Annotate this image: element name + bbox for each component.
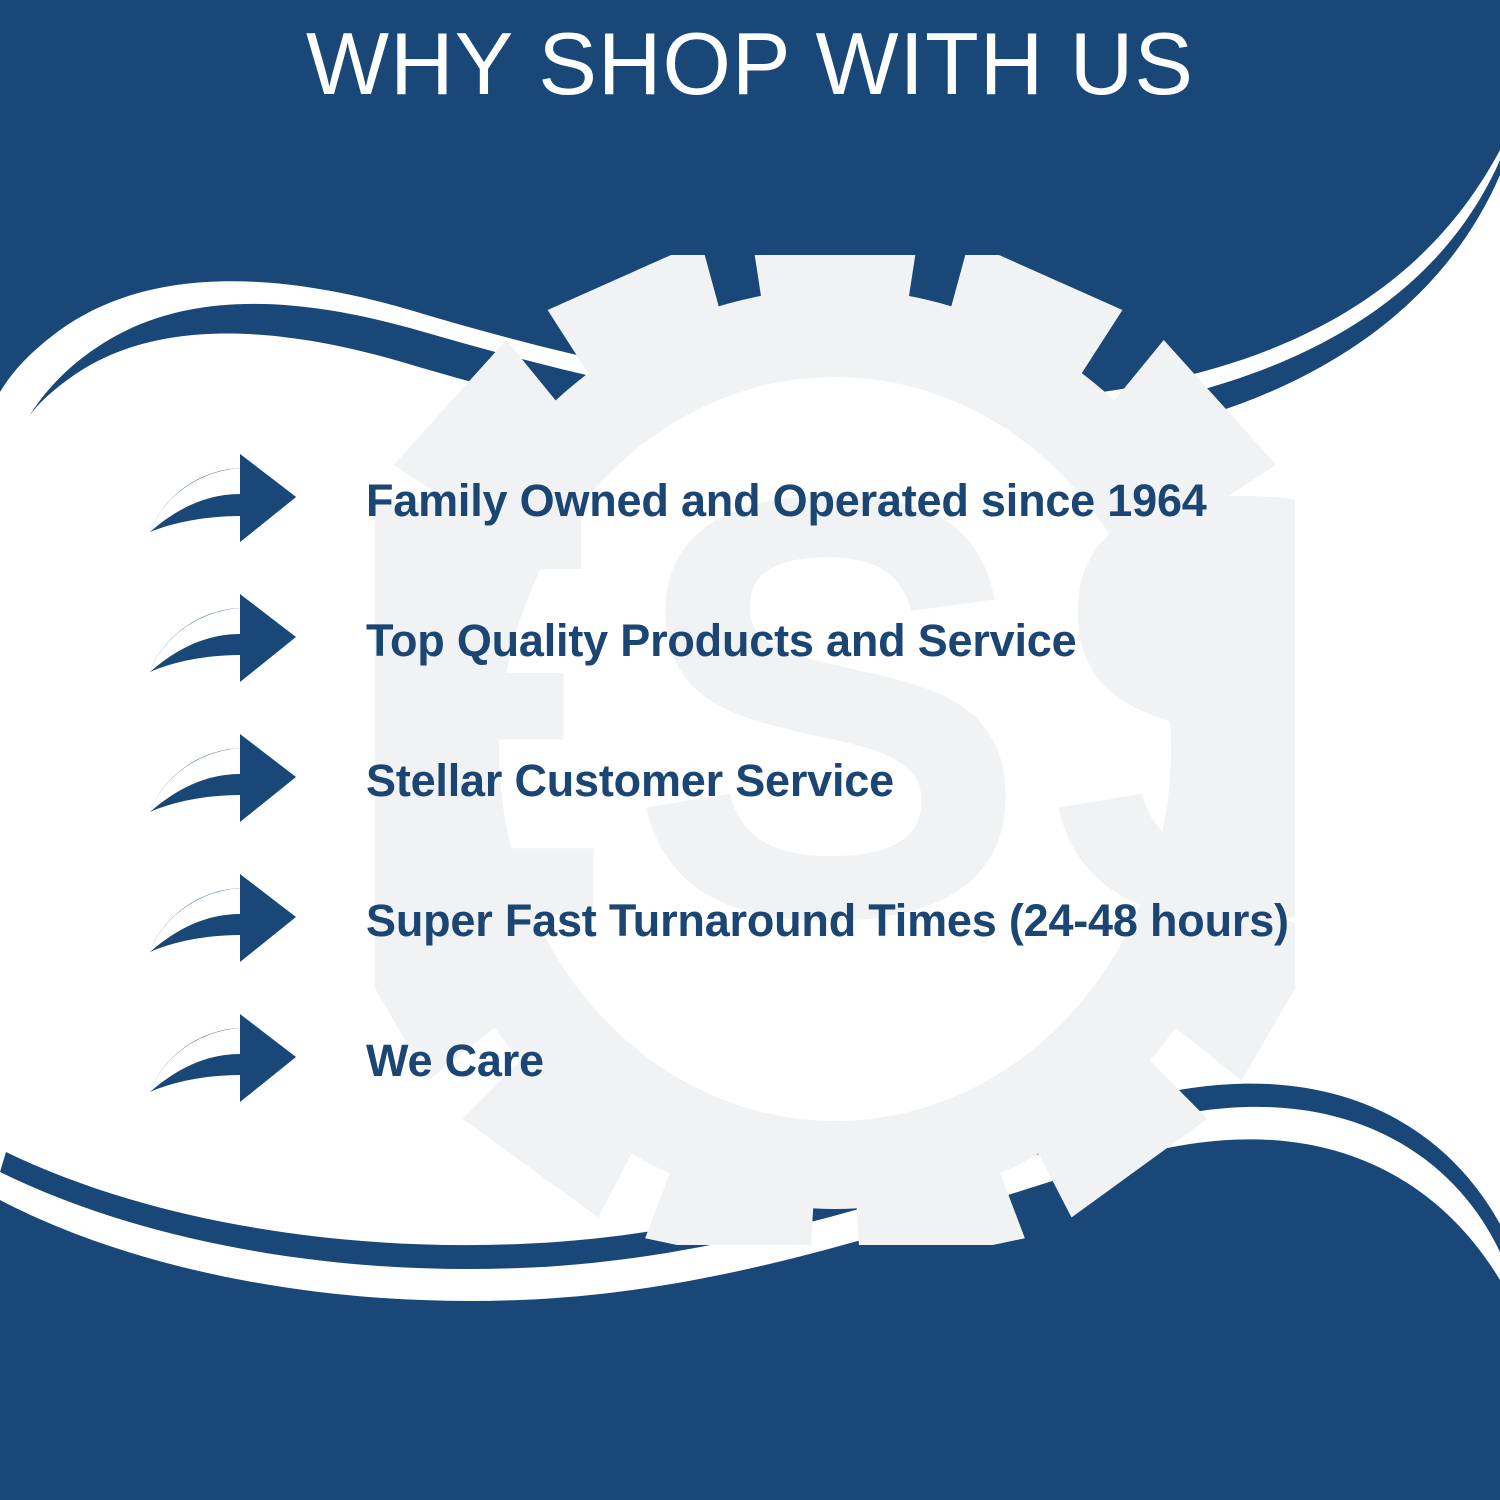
benefit-row: Top Quality Products and Service: [0, 570, 1500, 710]
benefit-label: Super Fast Turnaround Times (24-48 hours…: [366, 898, 1500, 943]
top-thin-swoosh: [28, 160, 1500, 454]
benefit-label: Top Quality Products and Service: [366, 618, 1500, 663]
benefit-row: Stellar Customer Service: [0, 710, 1500, 850]
curved-arrow-right-icon: [148, 874, 298, 966]
benefits-list: Family Owned and Operated since 1964 Top…: [0, 430, 1500, 1130]
benefit-label: We Care: [366, 1038, 1500, 1083]
curved-arrow-right-icon: [148, 734, 298, 826]
page-title: WHY SHOP WITH US: [0, 18, 1500, 110]
benefit-row: Super Fast Turnaround Times (24-48 hours…: [0, 850, 1500, 990]
benefit-label: Stellar Customer Service: [366, 758, 1500, 803]
curved-arrow-right-icon: [148, 594, 298, 686]
bottom-wave-band: [0, 1139, 1500, 1500]
curved-arrow-right-icon: [148, 1014, 298, 1106]
benefit-label: Family Owned and Operated since 1964: [366, 478, 1500, 523]
benefit-row: Family Owned and Operated since 1964: [0, 430, 1500, 570]
promo-banner: ESS WHY SHOP WITH US Family Owned and Op…: [0, 0, 1500, 1500]
benefit-row: We Care: [0, 990, 1500, 1130]
curved-arrow-right-icon: [148, 454, 298, 546]
